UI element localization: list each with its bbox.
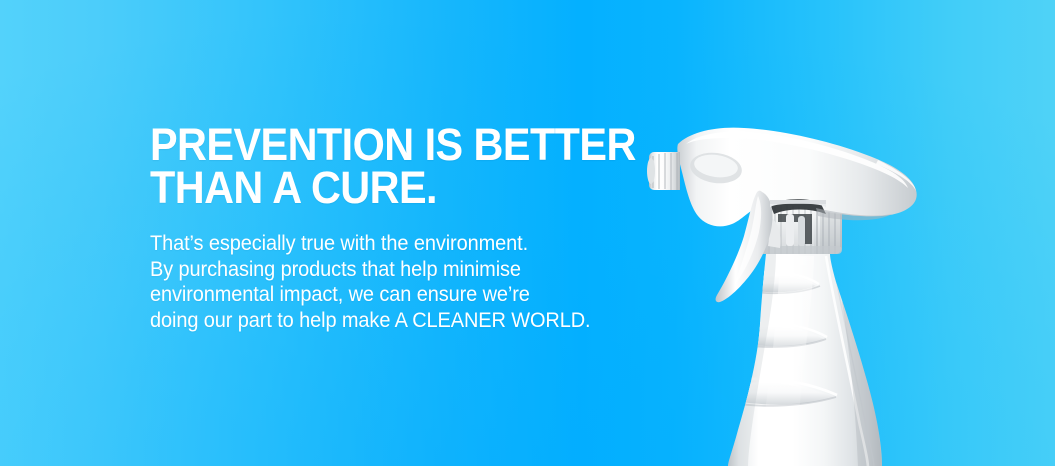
banner-body-text: That’s especially true with the environm… [150, 231, 682, 333]
promo-banner: PREVENTION IS BETTER THAN A CURE. That’s… [0, 0, 1055, 466]
banner-copy: PREVENTION IS BETTER THAN A CURE. That’s… [150, 123, 710, 333]
page-title: PREVENTION IS BETTER THAN A CURE. [150, 123, 665, 209]
